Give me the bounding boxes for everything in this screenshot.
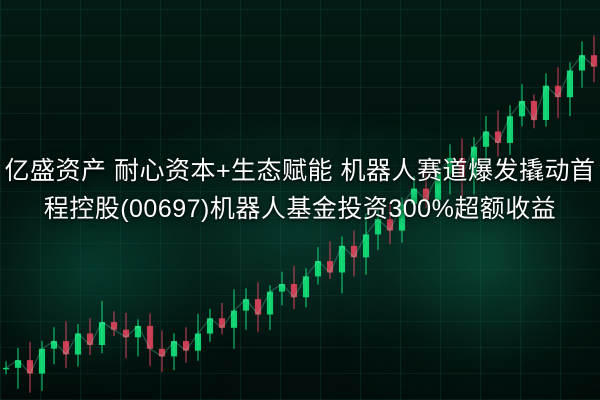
headline-line-1: 亿盛资产 耐心资本+生态赋能 机器人赛道爆发撬动首 [4,152,596,190]
headline-line-2: 程控股(00697)机器人基金投资300%超额收益 [4,190,596,228]
news-thumbnail-image: 亿盛资产 耐心资本+生态赋能 机器人赛道爆发撬动首 程控股(00697)机器人基… [0,0,600,400]
headline-text: 亿盛资产 耐心资本+生态赋能 机器人赛道爆发撬动首 程控股(00697)机器人基… [0,152,600,228]
